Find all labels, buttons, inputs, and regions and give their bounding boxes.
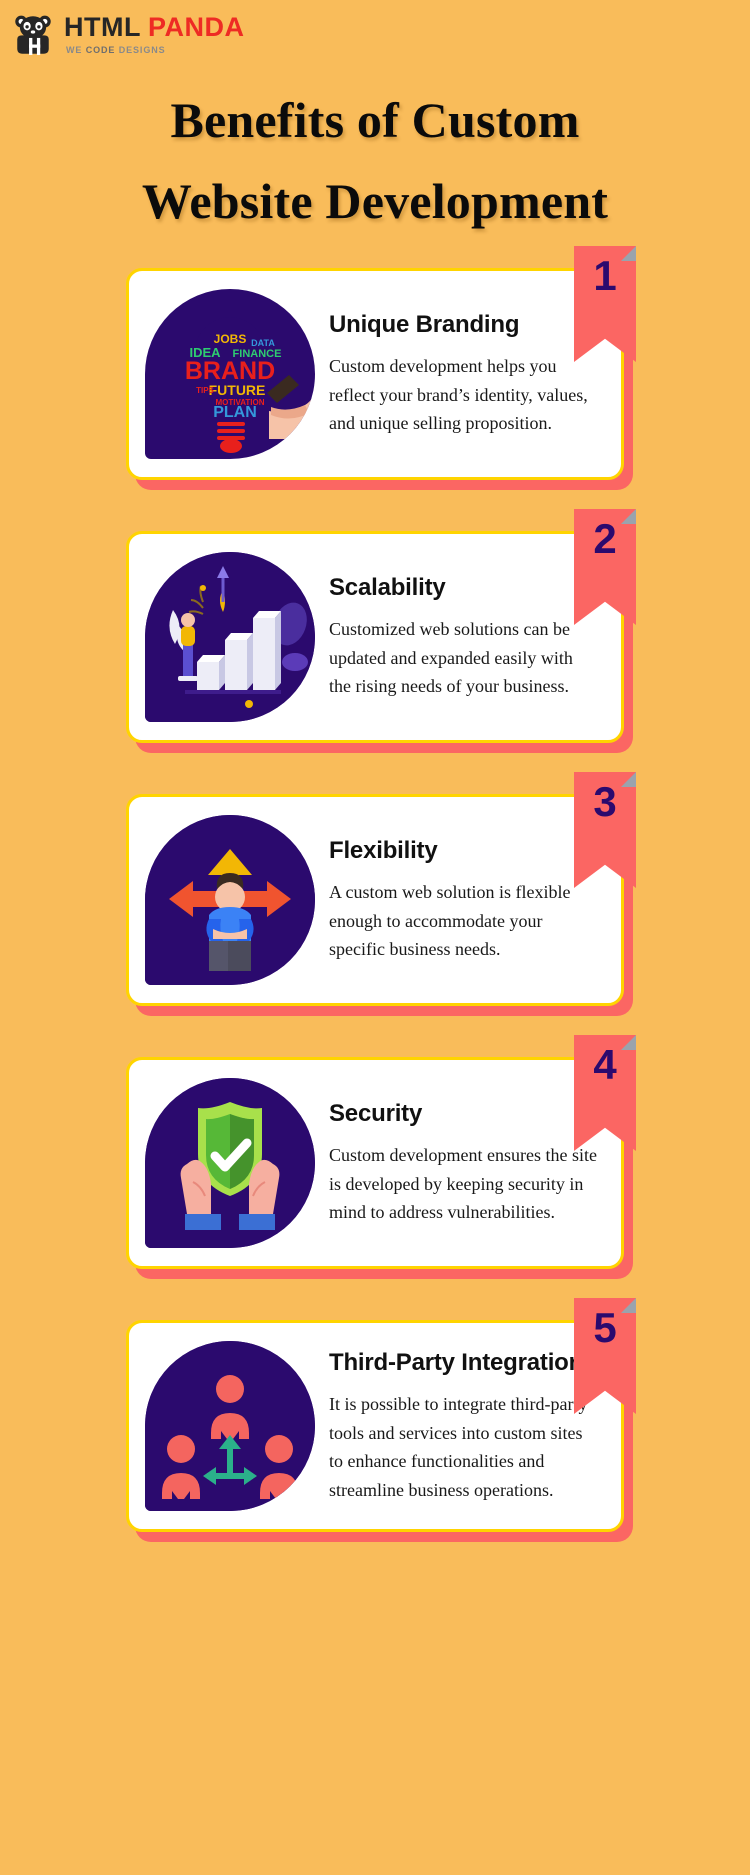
card-number-ribbon: 2 xyxy=(574,509,636,625)
card-surface: Flexibility A custom web solution is fle… xyxy=(126,794,624,1006)
svg-text:FUTURE: FUTURE xyxy=(209,382,266,398)
three-people-network-icon xyxy=(145,1341,315,1511)
card-description: It is possible to integrate third-party … xyxy=(329,1390,599,1504)
page-title-line-2: Website Development xyxy=(30,161,720,242)
brand-header: HTML PANDA WE CODE DESIGNS xyxy=(0,0,750,58)
brand-name-html: HTML xyxy=(64,14,141,41)
growth-bar-chart-person-icon xyxy=(145,552,315,722)
benefit-card-4: Security Custom development ensures the … xyxy=(126,1057,624,1269)
card-surface: JOBS IDEA FINANCE DATA BRAND FUTURE TIPS… xyxy=(126,268,624,480)
card-number-ribbon: 4 xyxy=(574,1035,636,1151)
card-title: Scalability xyxy=(329,573,599,602)
card-number-ribbon: 3 xyxy=(574,772,636,888)
card-title: Security xyxy=(329,1099,599,1128)
card-content: Flexibility A custom web solution is fle… xyxy=(315,836,603,964)
card-content: Scalability Customized web solutions can… xyxy=(315,573,603,701)
brand-name-panda: PANDA xyxy=(148,14,245,41)
card-description: Custom development ensures the site is d… xyxy=(329,1141,599,1226)
brand-wordmark: HTML PANDA WE CODE DESIGNS xyxy=(64,14,244,55)
benefit-card-3: Flexibility A custom web solution is fle… xyxy=(126,794,624,1006)
card-content: Security Custom development ensures the … xyxy=(315,1099,603,1227)
benefit-card-list: JOBS IDEA FINANCE DATA BRAND FUTURE TIPS… xyxy=(0,242,750,1532)
card-number: 1 xyxy=(574,255,636,297)
card-description: A custom web solution is flexible enough… xyxy=(329,878,599,963)
card-description: Customized web solutions can be updated … xyxy=(329,615,599,700)
benefit-card-1: JOBS IDEA FINANCE DATA BRAND FUTURE TIPS… xyxy=(126,268,624,480)
card-number: 3 xyxy=(574,781,636,823)
page-title: Benefits of Custom Website Development xyxy=(0,58,750,242)
panda-logo-icon xyxy=(12,13,54,55)
benefit-card-2: Scalability Customized web solutions can… xyxy=(126,531,624,743)
svg-text:PLAN: PLAN xyxy=(213,404,257,421)
card-number: 5 xyxy=(574,1307,636,1349)
card-number-ribbon: 1 xyxy=(574,246,636,362)
person-multi-direction-arrows-icon xyxy=(145,815,315,985)
svg-text:TIPS: TIPS xyxy=(196,386,214,395)
brand-word-cloud-lightbulb-icon: JOBS IDEA FINANCE DATA BRAND FUTURE TIPS… xyxy=(145,289,315,459)
svg-text:BRAND: BRAND xyxy=(185,357,275,385)
card-surface: Third-Party Integration It is possible t… xyxy=(126,1320,624,1532)
card-content: Third-Party Integration It is possible t… xyxy=(315,1348,603,1504)
card-content: Unique Branding Custom development helps… xyxy=(315,310,603,438)
shield-check-in-hands-icon xyxy=(145,1078,315,1248)
brand-tagline: WE CODE DESIGNS xyxy=(66,46,244,55)
svg-text:DATA: DATA xyxy=(251,338,275,348)
card-title: Flexibility xyxy=(329,836,599,865)
svg-text:JOBS: JOBS xyxy=(214,332,247,346)
card-number-ribbon: 5 xyxy=(574,1298,636,1414)
page-title-line-1: Benefits of Custom xyxy=(30,80,720,161)
card-title: Third-Party Integration xyxy=(329,1348,599,1377)
card-number: 4 xyxy=(574,1044,636,1086)
benefit-card-5: Third-Party Integration It is possible t… xyxy=(126,1320,624,1532)
card-number: 2 xyxy=(574,518,636,560)
card-description: Custom development helps you reflect you… xyxy=(329,352,599,437)
card-surface: Scalability Customized web solutions can… xyxy=(126,531,624,743)
card-surface: Security Custom development ensures the … xyxy=(126,1057,624,1269)
card-title: Unique Branding xyxy=(329,310,599,339)
